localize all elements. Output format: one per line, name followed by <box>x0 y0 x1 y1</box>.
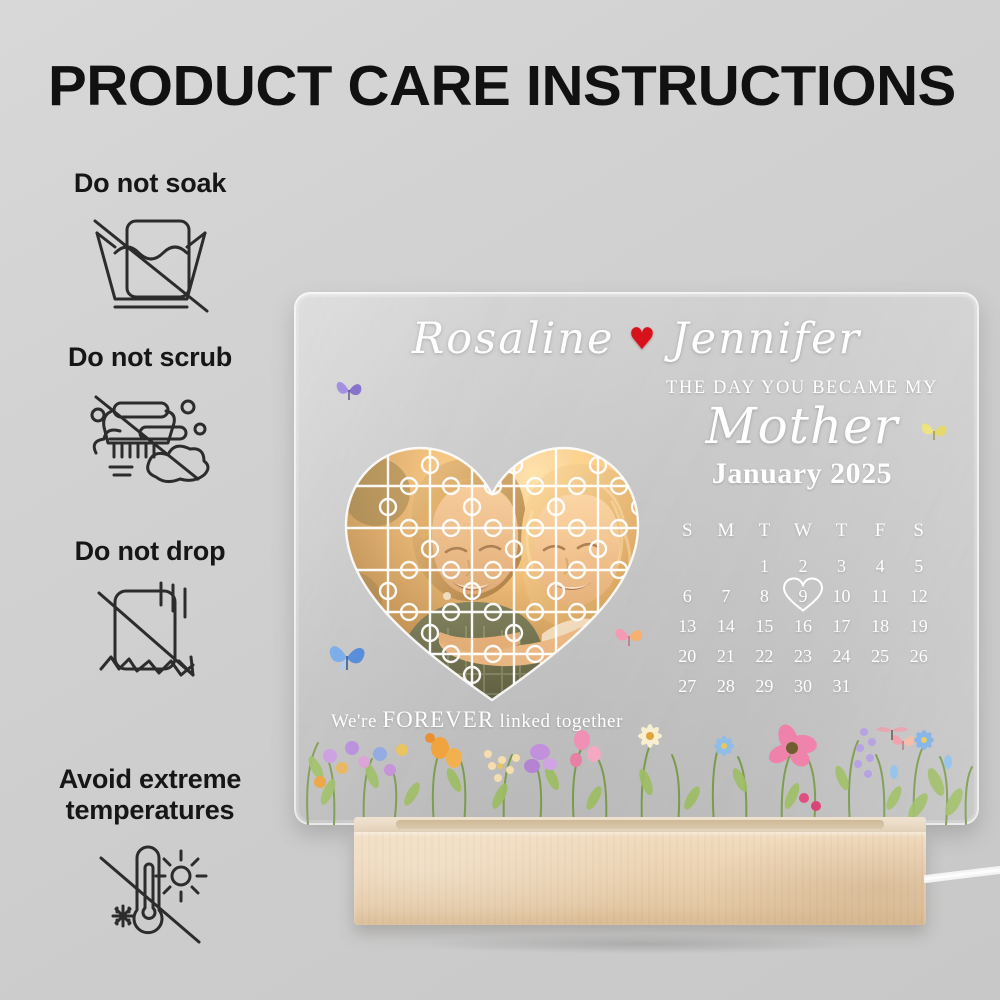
calendar-week-row: 6789101112 <box>668 581 938 611</box>
calendar-week-row: 13141516171819 <box>668 611 938 641</box>
scene: PRODUCT CARE INSTRUCTIONS Do not soak Do… <box>0 0 1000 1000</box>
no-extreme-temperature-icon <box>0 834 300 954</box>
yellow-butterfly <box>919 418 949 444</box>
calendar-weekday-5: F <box>861 520 900 551</box>
calendar-day-14: 14 <box>707 611 746 641</box>
calendar-day-8: 8 <box>745 581 784 611</box>
care-item-do-not-drop: Do not drop <box>0 536 300 695</box>
calendar-day-4: 4 <box>861 551 900 581</box>
calendar-day-highlighted: 9 <box>784 581 823 611</box>
calendar-day-5: 5 <box>899 551 938 581</box>
floor-shadow <box>330 930 950 958</box>
calendar-day-30: 30 <box>784 671 823 701</box>
purple-butterfly <box>334 376 364 404</box>
calendar-day-21: 21 <box>707 641 746 671</box>
calendar-day-20: 20 <box>668 641 707 671</box>
calendar-day-18: 18 <box>861 611 900 641</box>
calendar-day-19: 19 <box>899 611 938 641</box>
calendar-header-row: SMTWTFS <box>668 520 938 551</box>
calendar-day-22: 22 <box>745 641 784 671</box>
night-light-product: Rosaline ♥ Jennifer THE DAY YOU BECAME M… <box>290 290 982 950</box>
calendar-day-12: 12 <box>899 581 938 611</box>
plaque-right-text: THE DAY YOU BECAME MY Mother January 202… <box>652 378 952 491</box>
care-item-label: Do not drop <box>0 536 300 567</box>
acrylic-plaque: Rosaline ♥ Jennifer THE DAY YOU BECAME M… <box>294 292 979 825</box>
calendar-day-15: 15 <box>745 611 784 641</box>
calendar-day-28: 28 <box>707 671 746 701</box>
calendar-day-23: 23 <box>784 641 823 671</box>
calendar-day-10: 10 <box>822 581 861 611</box>
calendar-day-7: 7 <box>707 581 746 611</box>
calendar-day-27: 27 <box>668 671 707 701</box>
care-item-do-not-scrub: Do not scrub <box>0 342 300 491</box>
care-item-label: Do not scrub <box>0 342 300 373</box>
care-item-do-not-soak: Do not soak <box>0 168 300 317</box>
calendar-day-16: 16 <box>784 611 823 641</box>
calendar-day-17: 17 <box>822 611 861 641</box>
no-scrub-icon <box>0 381 300 491</box>
plaque-month-year: January 2025 <box>652 457 952 491</box>
blue-butterfly <box>326 638 368 674</box>
calendar-weekday-2: T <box>745 520 784 551</box>
name-second: Jennifer <box>671 318 861 361</box>
care-item-label: Avoid extreme temperatures <box>0 764 300 826</box>
calendar-day-empty <box>899 671 938 701</box>
calendar-week-row: 20212223242526 <box>668 641 938 671</box>
heart-icon: ♥ <box>628 325 657 355</box>
calendar-week-row: 2728293031 <box>668 671 938 701</box>
calendar-day-1: 1 <box>745 551 784 581</box>
calendar-day-26: 26 <box>899 641 938 671</box>
calendar-body: 1234567891011121314151617181920212223242… <box>668 551 938 701</box>
heart-puzzle-photo <box>316 382 668 710</box>
wildflower-border <box>294 710 979 825</box>
calendar-weekday-0: S <box>668 520 707 551</box>
no-soak-icon <box>0 207 300 317</box>
calendar-day-11: 11 <box>861 581 900 611</box>
plaque-relation: Mother <box>652 401 952 451</box>
calendar-weekday-1: M <box>707 520 746 551</box>
wooden-base <box>354 817 926 927</box>
name-first: Rosaline <box>412 318 615 361</box>
calendar-day-6: 6 <box>668 581 707 611</box>
calendar-day-3: 3 <box>822 551 861 581</box>
calendar-day-24: 24 <box>822 641 861 671</box>
no-drop-icon <box>0 575 300 695</box>
page-title: PRODUCT CARE INSTRUCTIONS <box>48 58 997 115</box>
calendar-day-empty <box>861 671 900 701</box>
calendar-weekday-6: S <box>899 520 938 551</box>
calendar-day-25: 25 <box>861 641 900 671</box>
calendar-day-31: 31 <box>822 671 861 701</box>
calendar: SMTWTFS 12345678910111213141516171819202… <box>668 520 938 701</box>
pink-butterfly <box>612 622 646 650</box>
calendar-weekday-3: W <box>784 520 823 551</box>
calendar-day-13: 13 <box>668 611 707 641</box>
calendar-day-empty <box>668 551 707 581</box>
calendar-weekday-4: T <box>822 520 861 551</box>
usb-cable <box>924 845 1000 885</box>
plaque-subtitle: THE DAY YOU BECAME MY <box>652 378 952 399</box>
care-item-label: Do not soak <box>0 168 300 199</box>
calendar-day-empty <box>707 551 746 581</box>
personalized-names: Rosaline ♥ Jennifer <box>294 318 979 361</box>
base-front-face <box>354 832 926 925</box>
dragonfly-icon <box>876 727 908 740</box>
base-plaque-slot <box>396 820 884 829</box>
care-item-avoid-extreme-temperatures: Avoid extreme temperatures <box>0 764 300 954</box>
calendar-day-29: 29 <box>745 671 784 701</box>
